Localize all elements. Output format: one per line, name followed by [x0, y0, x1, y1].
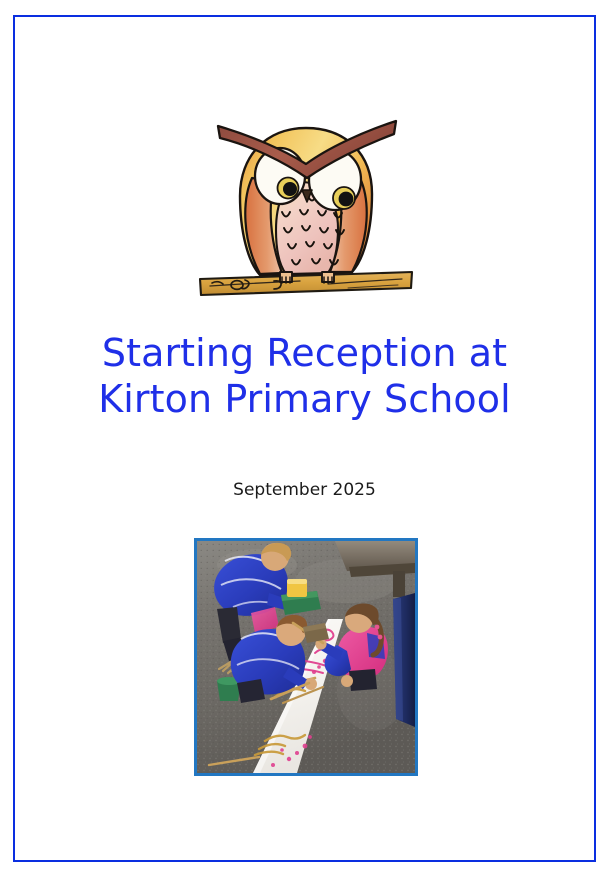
owl-logo [196, 112, 416, 308]
title-line-2: Kirton Primary School [13, 376, 596, 422]
title-line-1: Starting Reception at [13, 330, 596, 376]
owl-branch-shape [200, 272, 412, 295]
document-page: Starting Reception at Kirton Primary Sch… [0, 0, 612, 880]
page-title: Starting Reception at Kirton Primary Sch… [13, 330, 596, 422]
children-painting-photo [194, 538, 418, 776]
date-block: September 2025 [13, 478, 596, 502]
cover-date: September 2025 [233, 480, 376, 500]
